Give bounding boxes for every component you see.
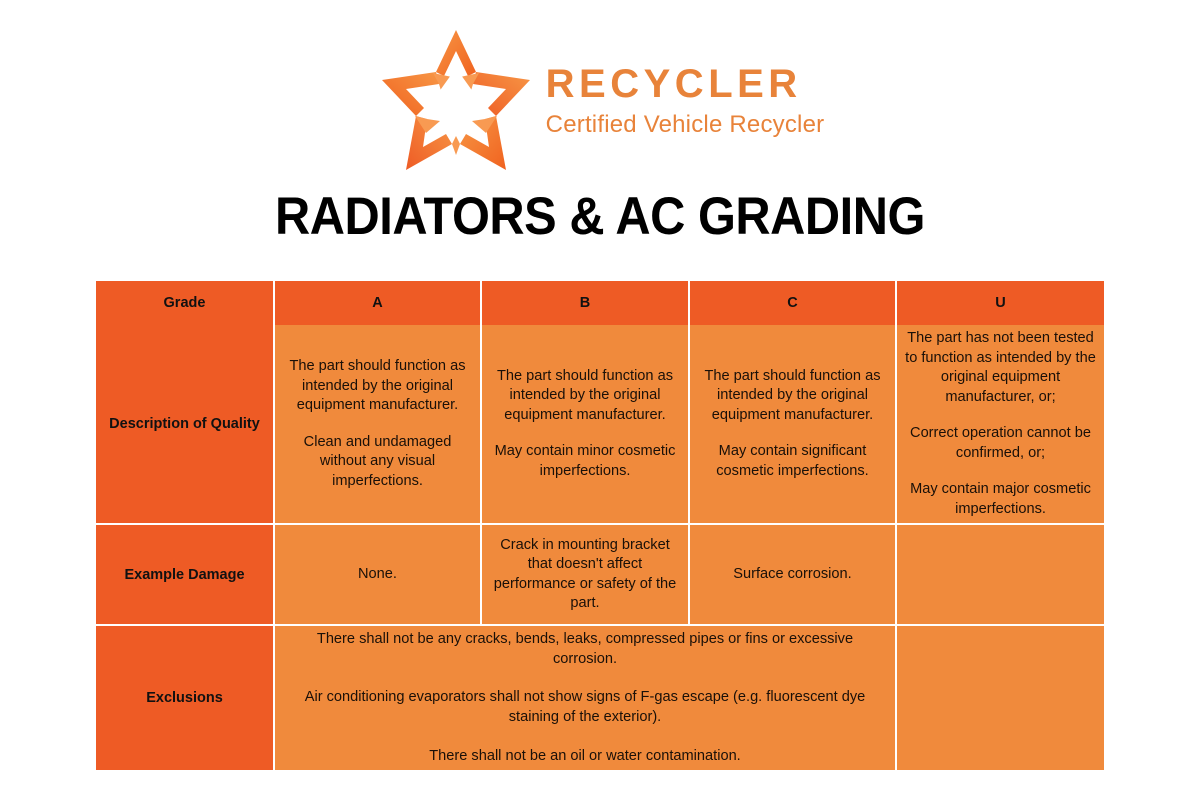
cell-paragraph: The part should function as intended by … [490, 367, 680, 426]
logo-name: RECYCLER [546, 63, 825, 105]
cell-paragraph: The part has not been tested to function… [905, 329, 1096, 407]
brand-logo-block: RECYCLER Certified Vehicle Recycler [0, 0, 1200, 180]
cell-description-b: The part should function as intended by … [482, 325, 690, 525]
cell-example-damage-b: Crack in mounting bracket that doesn't a… [482, 525, 690, 626]
table-row: Example Damage None. Crack in mounting b… [96, 525, 1104, 626]
cell-paragraph: Crack in mounting bracket that doesn't a… [490, 536, 680, 614]
cell-exclusions-u [897, 626, 1104, 770]
cell-example-damage-a: None. [275, 525, 482, 626]
cell-example-damage-c: Surface corrosion. [690, 525, 897, 626]
cell-description-a: The part should function as intended by … [275, 325, 482, 525]
cell-description-c: The part should function as intended by … [690, 325, 897, 525]
radiators-ac-grading-table: Grade A B C U Description of Quality The… [96, 281, 1104, 770]
cell-paragraph: Clean and undamaged without any visual i… [283, 433, 472, 492]
page-title: RADIATORS & AC GRADING [48, 180, 1152, 247]
logo-tagline: Certified Vehicle Recycler [546, 111, 825, 140]
cell-paragraph: There shall not be an oil or water conta… [283, 747, 887, 767]
row-label-description-of-quality: Description of Quality [96, 325, 275, 525]
column-header-b: B [482, 281, 690, 325]
cell-exclusions-merged-abc: There shall not be any cracks, bends, le… [275, 626, 897, 770]
column-header-c: C [690, 281, 897, 325]
cell-paragraph: None. [283, 565, 472, 585]
row-label-exclusions: Exclusions [96, 626, 275, 770]
logo-wordmark: RECYCLER Certified Vehicle Recycler [546, 63, 825, 140]
cell-paragraph: May contain minor cosmetic imperfections… [490, 442, 680, 481]
table-header-row: Grade A B C U [96, 281, 1104, 325]
cell-paragraph: May contain significant cosmetic imperfe… [698, 442, 887, 481]
cell-paragraph: The part should function as intended by … [283, 357, 472, 416]
table-row: Description of Quality The part should f… [96, 325, 1104, 525]
cell-paragraph: Surface corrosion. [698, 565, 887, 585]
row-label-example-damage: Example Damage [96, 525, 275, 626]
cell-paragraph: May contain major cosmetic imperfections… [905, 480, 1096, 519]
recycling-star-icon [376, 24, 536, 174]
column-header-a: A [275, 281, 482, 325]
cell-paragraph: Air conditioning evaporators shall not s… [283, 688, 887, 727]
column-header-grade: Grade [96, 281, 275, 325]
table-row: Exclusions There shall not be any cracks… [96, 626, 1104, 770]
grading-table-container: Grade A B C U Description of Quality The… [96, 281, 1104, 763]
cell-paragraph: There shall not be any cracks, bends, le… [283, 630, 887, 669]
column-header-u: U [897, 281, 1104, 325]
cell-paragraph: Correct operation cannot be confirmed, o… [905, 424, 1096, 463]
cell-description-u: The part has not been tested to function… [897, 325, 1104, 525]
cell-paragraph: The part should function as intended by … [698, 367, 887, 426]
cell-example-damage-u [897, 525, 1104, 626]
